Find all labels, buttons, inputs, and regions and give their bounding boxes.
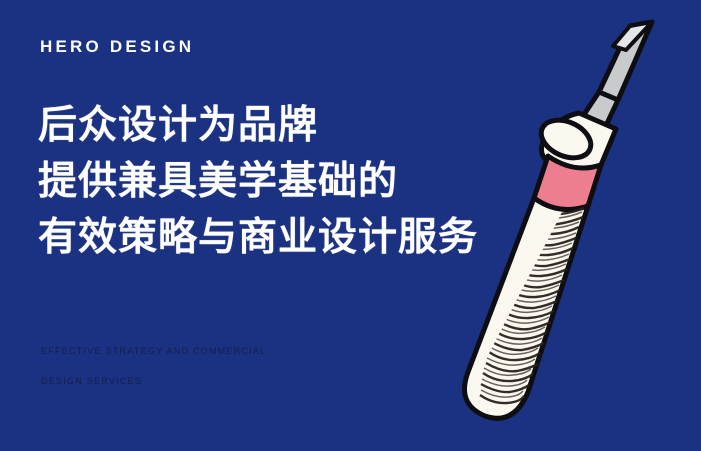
headline-block: 后众设计为品牌 提供兼具美学基础的 有效策略与商业设计服务 bbox=[38, 98, 478, 266]
brand-eyebrow: HERO DESIGN bbox=[40, 38, 194, 55]
knife-body bbox=[464, 198, 588, 418]
poster-canvas: HERO DESIGN 后众设计为品牌 提供兼具美学基础的 有效策略与商业设计服… bbox=[0, 0, 701, 451]
subtitle-line-2: DESIGN SERVICES bbox=[41, 366, 266, 396]
subtitle-block: EFFECTIVE STRATEGY AND COMMERCIAL DESIGN… bbox=[41, 336, 266, 396]
craft-knife-illustration bbox=[440, 0, 701, 451]
headline-line-2: 提供兼具美学基础的 bbox=[38, 154, 478, 210]
subtitle-line-1: EFFECTIVE STRATEGY AND COMMERCIAL bbox=[41, 336, 266, 366]
headline-line-3: 有效策略与商业设计服务 bbox=[38, 210, 478, 266]
headline-line-1: 后众设计为品牌 bbox=[38, 98, 478, 154]
